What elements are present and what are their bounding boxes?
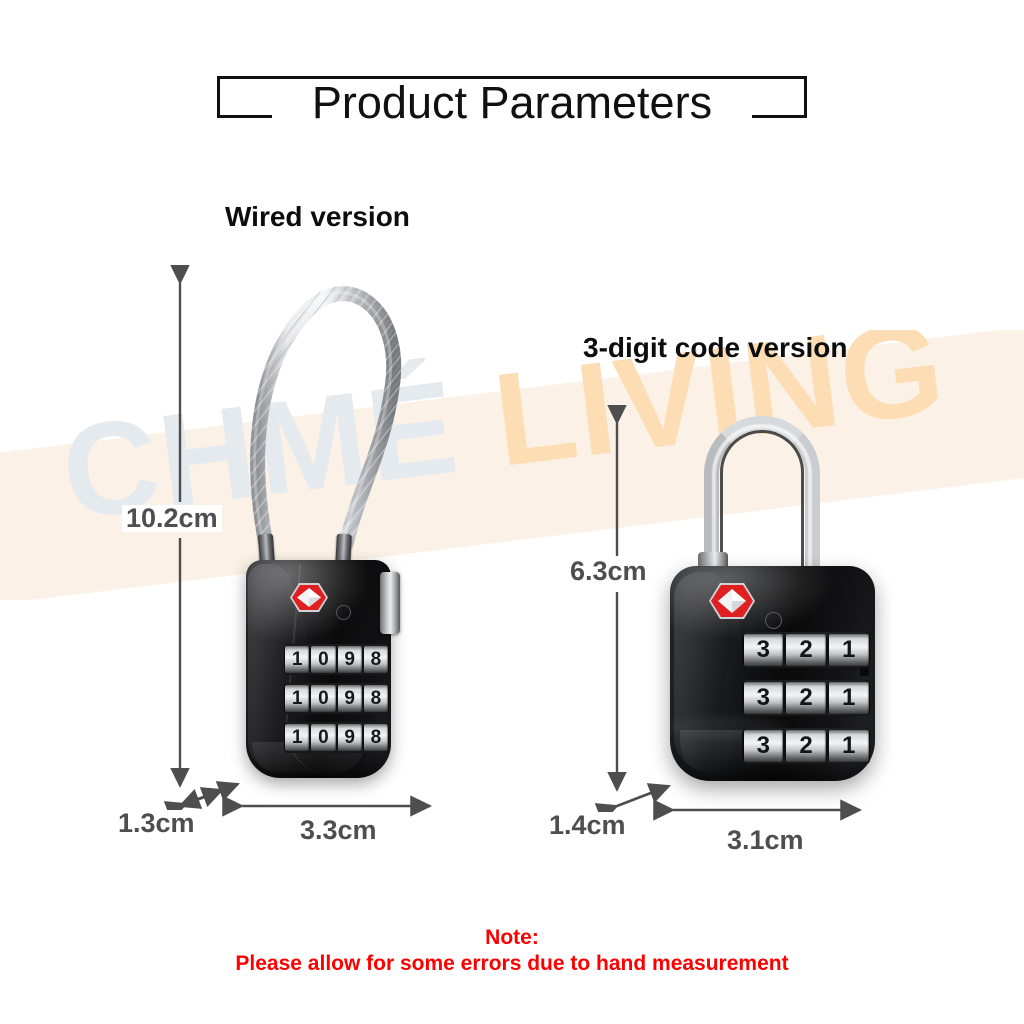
dial-digit[interactable]: 0 [311, 685, 335, 712]
dial-row[interactable]: 3 2 1 [742, 680, 870, 716]
tsa-diamond-logo [708, 582, 756, 620]
dial-digit[interactable]: 1 [829, 634, 869, 666]
dial-digit[interactable]: 2 [786, 634, 826, 666]
dial-row[interactable]: 1 0 9 8 [284, 683, 389, 714]
dial-row[interactable]: 1 0 9 8 [284, 722, 389, 753]
steel-cable-loop [232, 272, 447, 572]
dial-digit[interactable]: 2 [786, 682, 826, 714]
dial-digit[interactable]: 3 [744, 634, 784, 666]
dimension-label-height-wired: 10.2cm [122, 505, 222, 532]
dial-digit[interactable]: 1 [829, 682, 869, 714]
dial-digit[interactable]: 1 [829, 730, 869, 762]
note-text: Please allow for some errors due to hand… [0, 951, 1024, 977]
dim-depth-wired [180, 784, 238, 806]
combination-dials-wired[interactable]: 1 0 9 8 1 0 9 8 1 0 9 8 [284, 644, 389, 764]
dial-digit[interactable]: 1 [285, 685, 309, 712]
dial-digit[interactable]: 0 [311, 646, 335, 673]
dial-digit[interactable]: 8 [364, 646, 388, 673]
dimension-label-depth-wired: 1.3cm [114, 810, 199, 837]
dial-digit[interactable]: 8 [364, 685, 388, 712]
dial-digit[interactable]: 1 [285, 724, 309, 751]
dial-digit[interactable]: 2 [786, 730, 826, 762]
note-label: Note: [0, 925, 1024, 951]
dimension-label-width-wired: 3.3cm [296, 817, 381, 844]
dial-digit[interactable]: 9 [338, 646, 362, 673]
dial-digit[interactable]: 8 [364, 724, 388, 751]
dial-digit[interactable]: 9 [338, 685, 362, 712]
dial-row[interactable]: 1 0 9 8 [284, 644, 389, 675]
product-image-wired-lock: 1 0 9 8 1 0 9 8 1 0 9 8 [232, 272, 447, 792]
section-heading-wired: Wired version [225, 203, 410, 231]
dial-digit[interactable]: 3 [744, 730, 784, 762]
dimension-label-height-code: 6.3cm [566, 558, 651, 585]
padlock-shackle-highlight [712, 424, 812, 569]
dial-digit[interactable]: 3 [744, 682, 784, 714]
brand-mark-circle [765, 612, 782, 629]
dial-digit[interactable]: 0 [311, 724, 335, 751]
dimension-label-width-code: 3.1cm [723, 827, 808, 854]
tsa-diamond-logo [289, 582, 329, 613]
brand-mark-circle [336, 605, 351, 620]
dial-digit[interactable]: 9 [338, 724, 362, 751]
section-heading-code: 3-digit code version [583, 334, 848, 362]
combination-dials-code[interactable]: 3 2 1 3 2 1 3 2 1 [742, 632, 870, 780]
product-image-code-padlock: 3 2 1 3 2 1 3 2 1 [660, 400, 895, 795]
dimension-label-depth-code: 1.4cm [545, 812, 630, 839]
release-button[interactable] [380, 572, 400, 634]
infographic-canvas: CHMÉ LIVING Product Parameters Wired ver… [0, 0, 1024, 1024]
page-title: Product Parameters [0, 80, 1024, 125]
dial-row[interactable]: 3 2 1 [742, 728, 870, 764]
dial-row[interactable]: 3 2 1 [742, 632, 870, 668]
dial-digit[interactable]: 1 [285, 646, 309, 673]
